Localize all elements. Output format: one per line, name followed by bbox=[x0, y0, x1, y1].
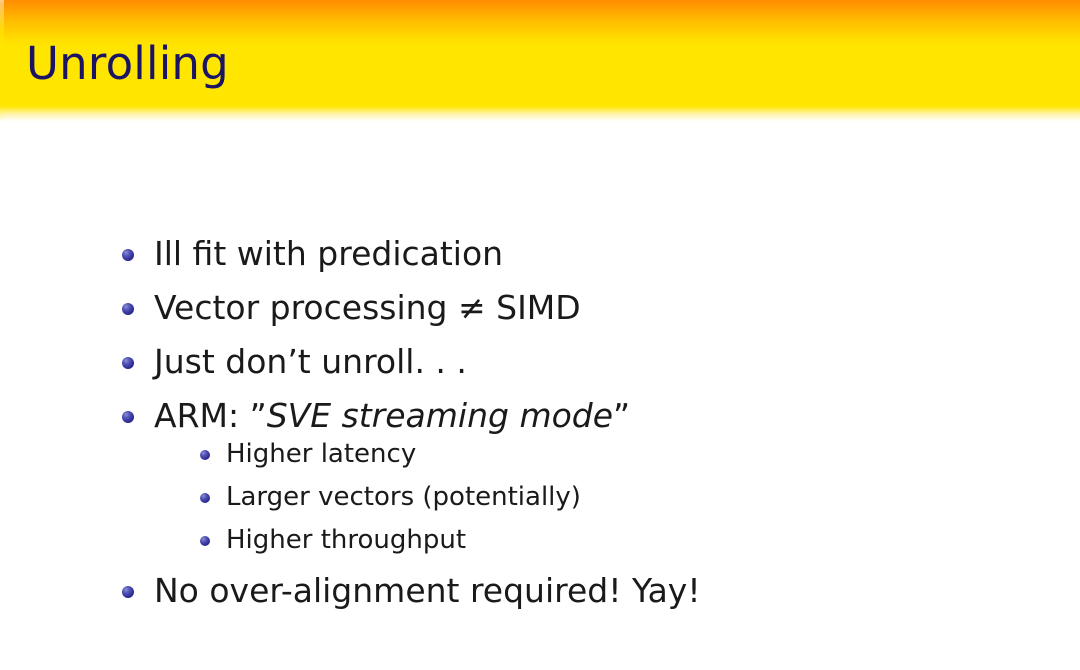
list-item: Just don’t unroll. . . bbox=[118, 344, 1018, 380]
list-item-label: Higher latency bbox=[226, 439, 416, 469]
list-item: Vector processing ≠ SIMD bbox=[118, 290, 1018, 326]
list-item-label: Vector processing ≠ SIMD bbox=[154, 288, 581, 327]
slide-body: Ill fit with predication Vector processi… bbox=[0, 122, 1080, 670]
list-item: Larger vectors (potentially) bbox=[196, 483, 1018, 512]
bullet-marker-icon bbox=[122, 586, 134, 598]
bullet-marker-icon bbox=[200, 536, 210, 546]
list-item-arm: ARM: ”SVE streaming mode” Higher latency… bbox=[118, 398, 1018, 555]
page-title: Unrolling bbox=[26, 38, 229, 90]
bullet-marker-icon bbox=[122, 249, 134, 261]
title-header-band: Unrolling bbox=[0, 0, 1080, 122]
bullet-marker-icon bbox=[122, 411, 134, 423]
list-item: Higher throughput bbox=[196, 526, 1018, 555]
bullet-marker-icon bbox=[200, 493, 210, 503]
list-item: Ill fit with predication bbox=[118, 236, 1018, 272]
list-item-label-suffix: ” bbox=[613, 396, 630, 435]
list-item-label: Larger vectors (potentially) bbox=[226, 482, 581, 512]
list-item-label-emphasis: SVE streaming mode bbox=[267, 396, 613, 435]
bullet-list-level1: Ill fit with predication Vector processi… bbox=[118, 236, 1018, 627]
list-item: No over-alignment required! Yay! bbox=[118, 573, 1018, 609]
list-item-label: Higher throughput bbox=[226, 525, 466, 555]
list-item-label: No over-alignment required! Yay! bbox=[154, 571, 701, 610]
bullet-list-level2: Higher latency Larger vectors (potential… bbox=[154, 440, 1018, 555]
header-left-edge-accent bbox=[0, 0, 4, 122]
bullet-marker-icon bbox=[122, 303, 134, 315]
list-item-label: Ill fit with predication bbox=[154, 234, 503, 273]
list-item-label: Just don’t unroll. . . bbox=[154, 342, 467, 381]
presentation-slide: Unrolling Ill fit with predication Vecto… bbox=[0, 0, 1080, 670]
bullet-marker-icon bbox=[200, 450, 210, 460]
bullet-marker-icon bbox=[122, 357, 134, 369]
list-item-label-prefix: ARM: ” bbox=[154, 396, 267, 435]
list-item: Higher latency bbox=[196, 440, 1018, 469]
